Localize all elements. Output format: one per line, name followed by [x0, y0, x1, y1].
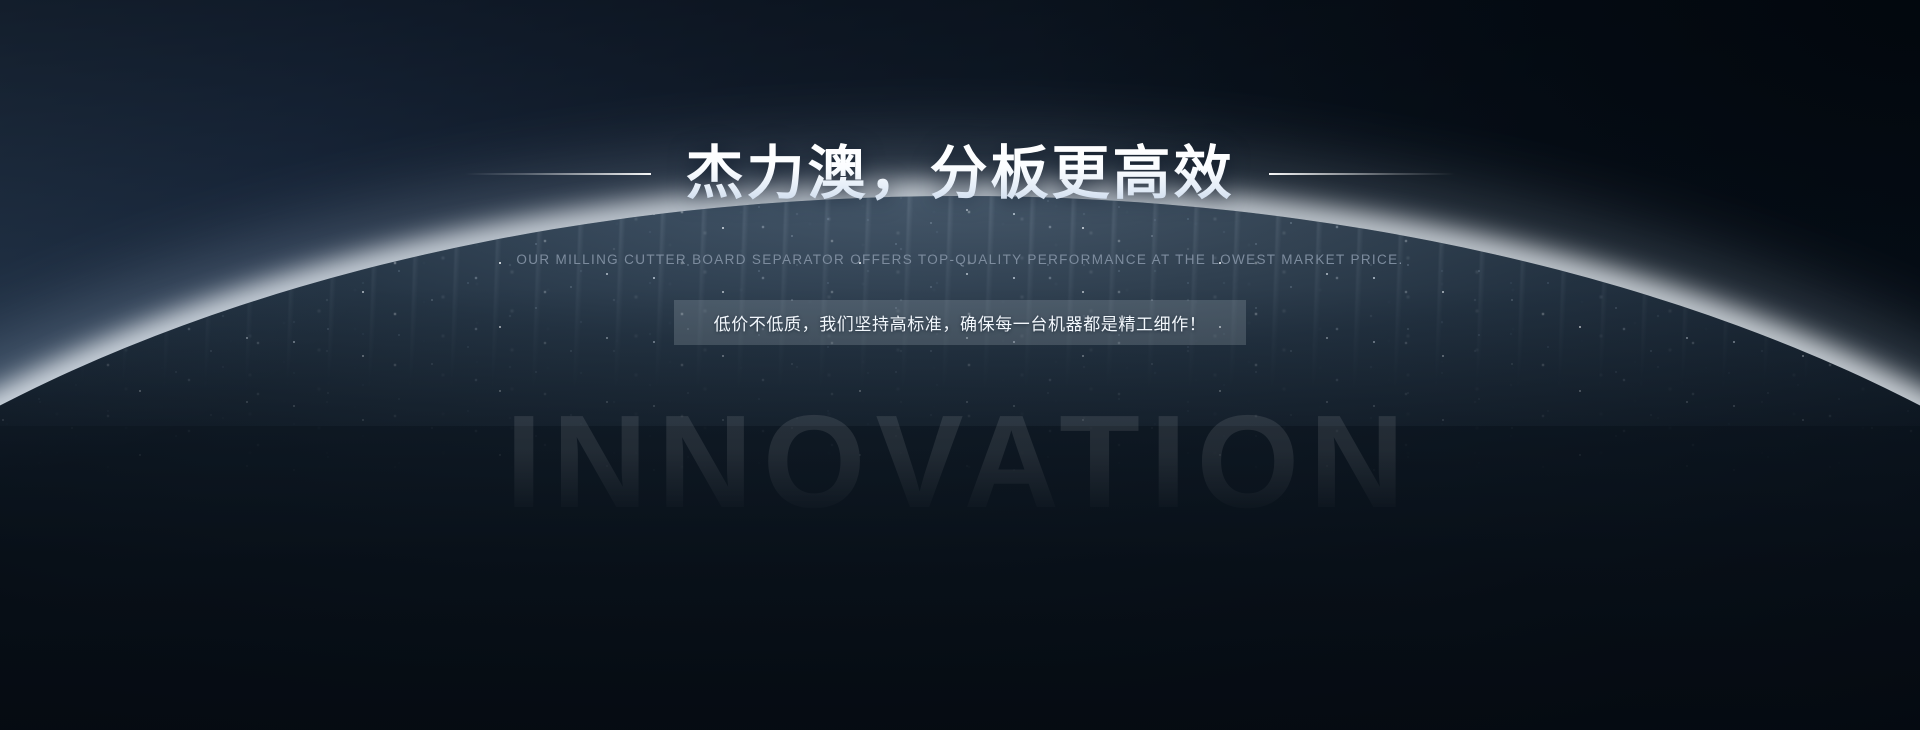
hero-banner: INNOVATION 杰力澳，分板更高效 OUR MILLING CUTTER … — [0, 0, 1920, 730]
hero-title-row: 杰力澳，分板更高效 — [0, 142, 1920, 207]
hero-tagline-bar: 低价不低质，我们坚持高标准，确保每一台机器都是精工细作！ — [674, 300, 1246, 345]
title-rule-left-icon — [465, 173, 651, 175]
hero-title: 杰力澳，分板更高效 — [685, 142, 1234, 207]
hero-subtitle-english: OUR MILLING CUTTER BOARD SEPARATOR OFFER… — [0, 252, 1920, 267]
innovation-watermark: INNOVATION — [0, 396, 1920, 528]
title-rule-right-icon — [1269, 173, 1455, 175]
hero-tagline-container: 低价不低质，我们坚持高标准，确保每一台机器都是精工细作！ — [0, 300, 1920, 345]
hero-content: INNOVATION 杰力澳，分板更高效 OUR MILLING CUTTER … — [0, 0, 1920, 730]
